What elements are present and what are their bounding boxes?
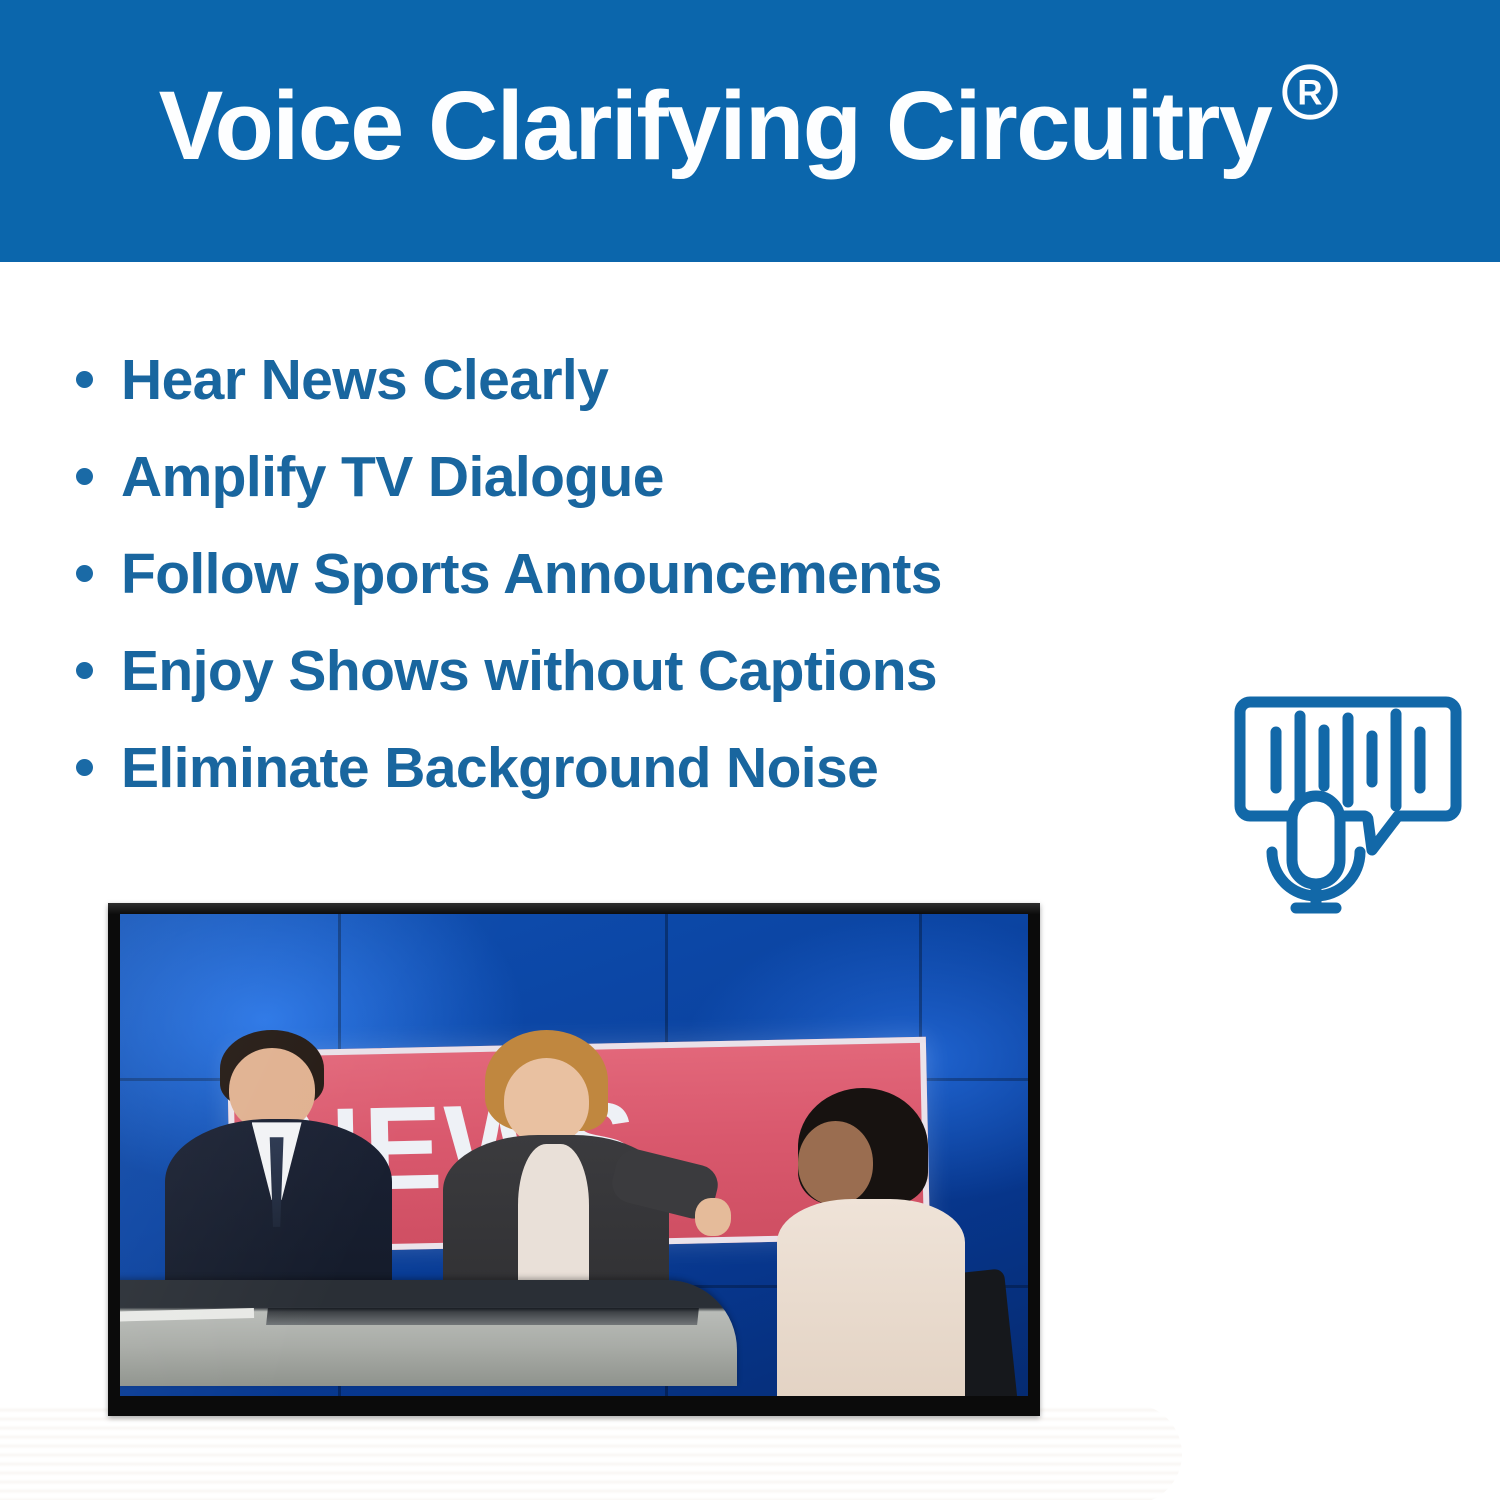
- list-item: Amplify TV Dialogue: [76, 449, 1196, 546]
- svg-text:R: R: [1298, 73, 1323, 112]
- header-banner: Voice Clarifying Circuitry R: [0, 0, 1500, 262]
- benefit-label: Enjoy Shows without Captions: [121, 643, 937, 700]
- flat-screen-television: NEWS: [108, 903, 1040, 1416]
- list-item: Follow Sports Announcements: [76, 546, 1196, 643]
- bullet-dot-icon: [76, 468, 93, 485]
- desk-glass-top: [266, 1308, 699, 1325]
- registered-trademark-icon: R: [1279, 61, 1341, 123]
- bullet-dot-icon: [76, 759, 93, 776]
- benefit-label: Hear News Clearly: [121, 352, 608, 409]
- blouse: [777, 1199, 965, 1396]
- list-item: Hear News Clearly: [76, 352, 1196, 449]
- header-inner: Voice Clarifying Circuitry R: [159, 77, 1342, 174]
- tv-screen: NEWS: [120, 914, 1028, 1396]
- voice-waveform-microphone-icon: [1228, 668, 1468, 918]
- desk-papers: [120, 1308, 254, 1322]
- head: [504, 1058, 589, 1144]
- bullet-dot-icon: [76, 371, 93, 388]
- female-guest: [765, 1088, 974, 1396]
- wooden-table-surface: [0, 1404, 1182, 1500]
- news-desk: [120, 1280, 737, 1386]
- page-title: Voice Clarifying Circuitry: [159, 77, 1272, 174]
- benefits-list: Hear News Clearly Amplify TV Dialogue Fo…: [76, 352, 1196, 837]
- hand: [695, 1198, 730, 1236]
- bullet-dot-icon: [76, 662, 93, 679]
- top: [518, 1144, 589, 1297]
- bullet-dot-icon: [76, 565, 93, 582]
- head: [798, 1121, 873, 1204]
- promo-graphic: Voice Clarifying Circuitry R Hear News C…: [0, 0, 1500, 1500]
- list-item: Eliminate Background Noise: [76, 740, 1196, 837]
- list-item: Enjoy Shows without Captions: [76, 643, 1196, 740]
- benefit-label: Amplify TV Dialogue: [121, 449, 664, 506]
- benefit-label: Follow Sports Announcements: [121, 546, 942, 603]
- tv-bezel: [108, 903, 1040, 914]
- benefit-label: Eliminate Background Noise: [121, 740, 878, 797]
